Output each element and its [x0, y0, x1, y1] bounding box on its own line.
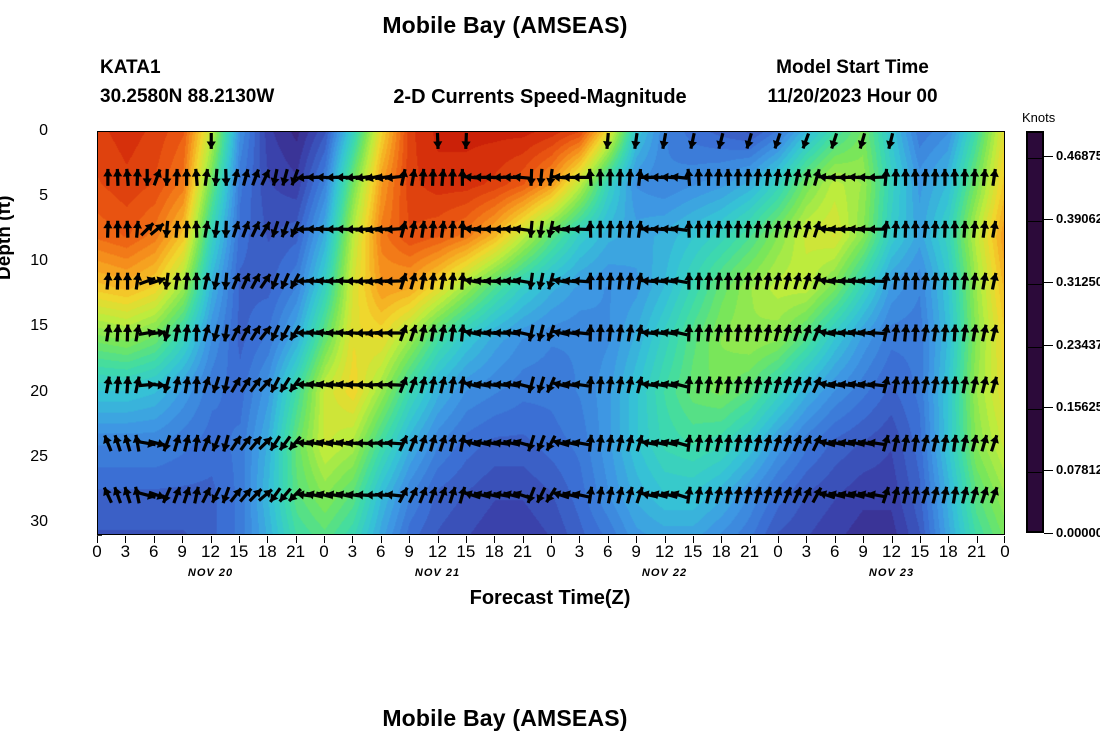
colorbar-tick-label: 0.15625	[1056, 399, 1100, 414]
x-tick-label: 6	[376, 542, 385, 562]
current-vector-arrows	[98, 132, 1004, 534]
x-tick-label: 9	[858, 542, 867, 562]
x-tick-label: 18	[485, 542, 504, 562]
secondary-panel-title: Mobile Bay (AMSEAS)	[0, 705, 1010, 732]
colorbar-tick-label: 0.07812	[1056, 462, 1100, 477]
colorbar-segment-divider	[1028, 221, 1042, 222]
y-tick-label: 25	[12, 448, 48, 466]
heatmap-plot-area[interactable]	[97, 131, 1005, 535]
x-tick-label: 18	[712, 542, 731, 562]
station-coordinates: 30.2580N 88.2130W	[100, 86, 274, 108]
colorbar-segment-divider	[1028, 472, 1042, 473]
colorbar	[1026, 131, 1044, 533]
colorbar-segment-divider	[1028, 347, 1042, 348]
y-tick-label: 30	[12, 513, 48, 531]
x-tick-label: 15	[683, 542, 702, 562]
y-axis-ticks: 051015202530	[52, 131, 92, 535]
x-axis-day-label: NOV 23	[869, 567, 914, 579]
colorbar-tick	[1044, 282, 1053, 283]
x-tick-label: 12	[882, 542, 901, 562]
x-axis-day-label: NOV 20	[188, 567, 233, 579]
colorbar-tick	[1044, 533, 1053, 534]
x-tick-label: 0	[92, 542, 101, 562]
x-tick-label: 0	[319, 542, 328, 562]
x-tick-label: 21	[740, 542, 759, 562]
colorbar-tick	[1044, 470, 1053, 471]
colorbar-tick-label: 0.39062	[1056, 211, 1100, 226]
x-axis-title: Forecast Time(Z)	[300, 587, 800, 610]
x-tick-label: 6	[830, 542, 839, 562]
colorbar-title: Knots	[1022, 110, 1055, 125]
x-tick-label: 6	[603, 542, 612, 562]
x-tick-label: 0	[773, 542, 782, 562]
x-tick-label: 21	[967, 542, 986, 562]
x-tick-label: 3	[348, 542, 357, 562]
x-tick-label: 18	[939, 542, 958, 562]
colorbar-segment-divider	[1028, 158, 1042, 159]
model-start-time-value: 11/20/2023 Hour 00	[700, 86, 1005, 108]
x-tick-label: 21	[286, 542, 305, 562]
x-axis-day-label: NOV 21	[415, 567, 460, 579]
colorbar-tick	[1044, 407, 1053, 408]
x-tick-label: 15	[910, 542, 929, 562]
x-tick-label: 9	[177, 542, 186, 562]
colorbar-tick-label: 0.46875	[1056, 148, 1100, 163]
x-tick-label: 12	[428, 542, 447, 562]
x-tick-label: 3	[802, 542, 811, 562]
y-tick-label: 5	[12, 187, 48, 205]
x-axis-ticks: 0369121518210369121518210369121518210369…	[97, 536, 1005, 582]
model-start-time-label: Model Start Time	[700, 57, 1005, 79]
x-tick-label: 3	[575, 542, 584, 562]
station-id: KATA1	[100, 57, 161, 79]
colorbar-tick-label: 0.23437	[1056, 337, 1100, 352]
colorbar-ticks: 0.468750.390620.312500.234370.156250.078…	[1044, 131, 1100, 533]
y-tick-label: 20	[12, 383, 48, 401]
x-tick-label: 0	[1000, 542, 1009, 562]
colorbar-tick-label: 0.31250	[1056, 274, 1100, 289]
page-title: Mobile Bay (AMSEAS)	[0, 12, 1010, 39]
x-tick-label: 6	[149, 542, 158, 562]
x-tick-label: 15	[229, 542, 248, 562]
x-tick-label: 9	[404, 542, 413, 562]
x-tick-label: 21	[513, 542, 532, 562]
x-tick-label: 3	[121, 542, 130, 562]
colorbar-tick	[1044, 156, 1053, 157]
y-tick-label: 0	[12, 122, 48, 140]
x-tick-label: 9	[631, 542, 640, 562]
y-tick-label: 15	[12, 317, 48, 335]
x-tick-label: 12	[201, 542, 220, 562]
colorbar-segment-divider	[1028, 409, 1042, 410]
chart-subtitle: 2-D Currents Speed-Magnitude	[330, 86, 750, 109]
x-tick-label: 15	[456, 542, 475, 562]
x-tick-label: 18	[258, 542, 277, 562]
x-tick-label: 0	[546, 542, 555, 562]
colorbar-tick	[1044, 219, 1053, 220]
colorbar-tick	[1044, 345, 1053, 346]
y-tick-label: 10	[12, 252, 48, 270]
chart-page: Mobile Bay (AMSEAS) KATA1 30.2580N 88.21…	[0, 0, 1100, 750]
x-tick-label: 12	[655, 542, 674, 562]
x-axis-day-label: NOV 22	[642, 567, 687, 579]
colorbar-tick-label: 0.00000	[1056, 525, 1100, 540]
colorbar-segment-divider	[1028, 284, 1042, 285]
